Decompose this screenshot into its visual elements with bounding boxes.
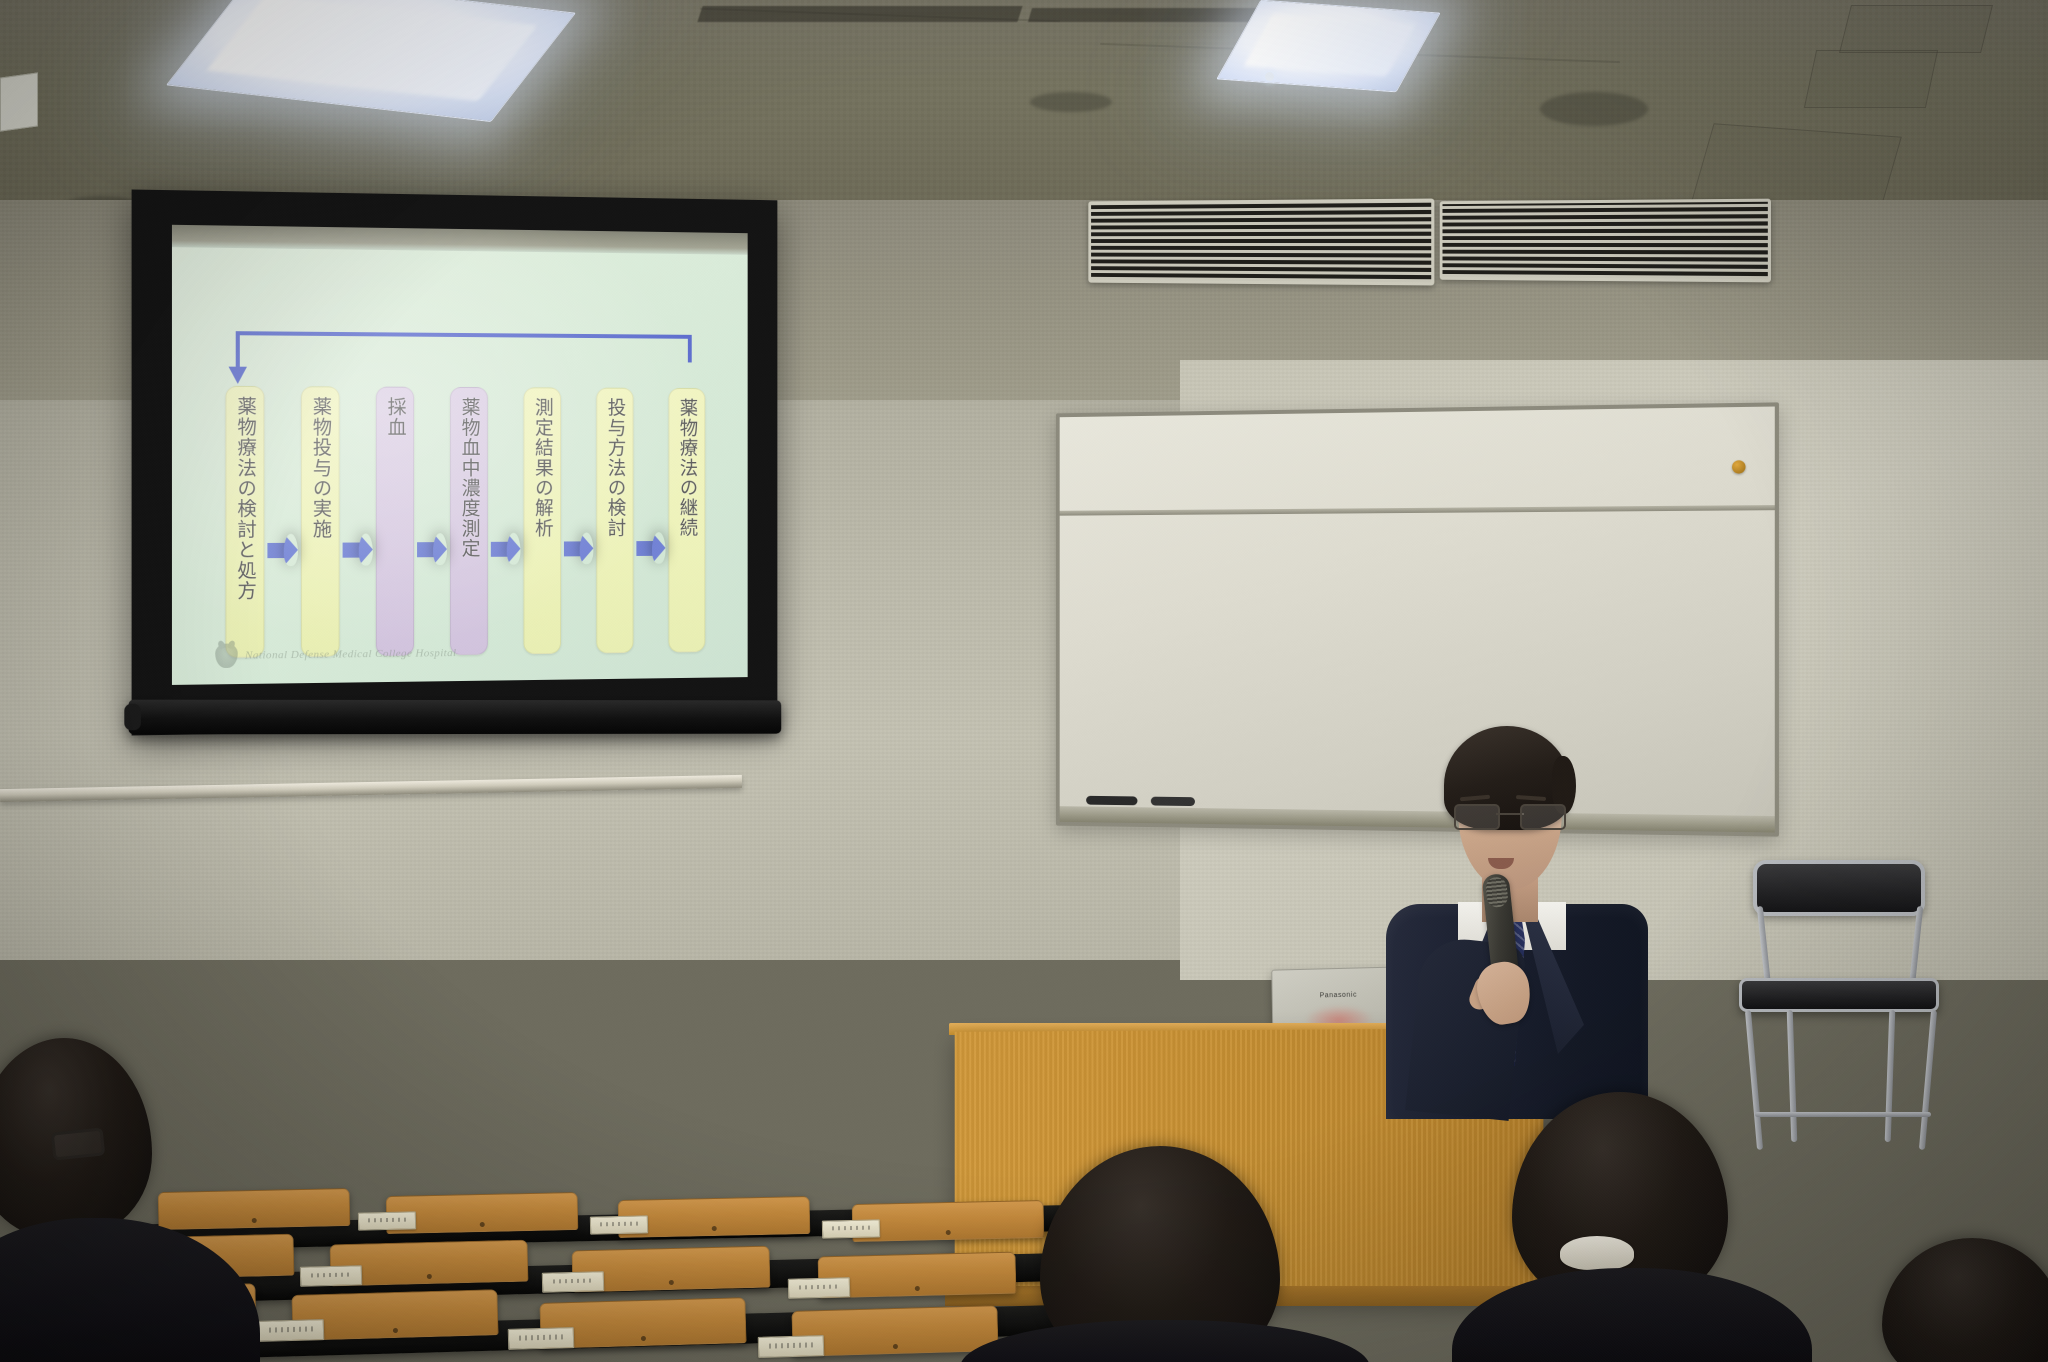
chair-frame-leg: [1909, 906, 1924, 988]
chair-cross-rail: [1755, 1112, 1931, 1117]
ceiling-vent: [1030, 92, 1112, 112]
nameplate-marking: [832, 1226, 870, 1231]
chair-seat: [1739, 978, 1939, 1012]
flow-node-label: 薬物療法の継続: [677, 398, 698, 538]
desk-nameplate: [358, 1211, 416, 1230]
audience-head: [1882, 1238, 2048, 1362]
desk-nameplate: [758, 1335, 825, 1358]
arrow-head: [507, 533, 521, 565]
flow-node-4: 薬物血中濃度測定: [450, 387, 488, 655]
projection-screen-roller-bar[interactable]: [128, 700, 781, 735]
loop-right-segment: [688, 335, 692, 363]
flow-arrow-icon: [491, 531, 521, 571]
ceiling: [0, 0, 2048, 210]
flow-node-1: 薬物療法の検討と処方: [225, 386, 264, 658]
flow-node-label: 測定結果の解析: [532, 397, 553, 538]
nameplate-marking: [769, 1343, 813, 1349]
desk-nameplate: [590, 1215, 648, 1234]
flow-node-6: 投与方法の検討: [596, 388, 633, 654]
whiteboard-magnet-icon[interactable]: [1732, 460, 1746, 473]
desk-nameplate: [822, 1219, 880, 1238]
chair-backrest: [1753, 860, 1925, 916]
nameplate-marking: [553, 1279, 594, 1284]
desk-nameplate: [258, 1319, 325, 1342]
hair-clip: [1560, 1236, 1634, 1270]
folding-chair[interactable]: [1735, 860, 1945, 1160]
desk-nameplate: [508, 1327, 575, 1350]
projected-slide: 薬物療法の検討と処方 薬物投与の実施 採血: [172, 225, 748, 685]
air-conditioner-vent: [1088, 199, 1434, 286]
ceiling-speaker-grille: [1540, 92, 1648, 126]
arrow-head: [359, 533, 373, 565]
nameplate-marking: [799, 1285, 840, 1290]
lens-left: [1454, 804, 1500, 830]
loop-left-segment: [236, 331, 240, 370]
lecture-hall-photo: 薬物療法の検討と処方 薬物投与の実施 採血: [0, 0, 2048, 1362]
flow-node-label: 薬物投与の実施: [310, 396, 332, 539]
flow-node-5: 測定結果の解析: [524, 387, 561, 654]
seat[interactable]: [852, 1200, 1045, 1242]
crest-icon: [215, 643, 238, 668]
slide-top-band: [172, 225, 748, 255]
flow-node-2: 薬物投与の実施: [301, 386, 340, 657]
loop-arrowhead-icon: [229, 367, 247, 384]
slide-footer-logo-text: National Defense Medical College Hospita…: [245, 647, 457, 662]
sprinkler-head-icon: [1265, 72, 1274, 81]
flow-node-label: 薬物血中濃度測定: [458, 397, 479, 559]
nameplate-marking: [600, 1222, 638, 1227]
flow-arrow-icon: [343, 531, 373, 571]
desk-nameplate: [542, 1271, 604, 1293]
whiteboard-divider: [1060, 505, 1775, 516]
chair-frame-leg: [1745, 1010, 1763, 1150]
audience-eyeglasses-icon: [51, 1127, 106, 1160]
nameplate-marking: [269, 1327, 313, 1333]
chair-frame-leg: [1787, 1010, 1798, 1142]
flow-arrow-icon: [417, 531, 447, 571]
flow-node-7: 薬物療法の継続: [668, 388, 705, 653]
chair-frame-leg: [1757, 906, 1772, 988]
arrow-head: [284, 534, 298, 566]
loop-horizontal-segment: [236, 331, 692, 339]
flow-node-label: 薬物療法の検討と処方: [234, 396, 256, 601]
flow-node-3: 採血: [376, 387, 414, 656]
arrow-head: [652, 532, 666, 564]
presenter: [1380, 726, 1660, 1116]
desk-nameplate: [788, 1277, 850, 1299]
flow-arrow-icon: [267, 532, 298, 573]
ceiling-access-panel: [1839, 5, 1993, 53]
nameplate-marking: [368, 1218, 406, 1223]
workflow-flow-row: 薬物療法の検討と処方 薬物投与の実施 採血: [225, 386, 705, 658]
flow-arrow-icon: [636, 530, 665, 570]
lens-right: [1520, 804, 1566, 830]
nameplate-marking: [519, 1335, 563, 1341]
eyeglasses-icon: [1454, 804, 1566, 826]
flow-node-label: 採血: [384, 397, 405, 438]
ceiling-access-panel: [1804, 50, 1938, 108]
ceiling-plate: [0, 72, 38, 131]
nameplate-marking: [311, 1273, 352, 1278]
chair-frame-leg: [1885, 1010, 1896, 1142]
seat[interactable]: [158, 1188, 351, 1230]
ceiling-beam: [697, 6, 1022, 22]
projection-screen-frame: 薬物療法の検討と処方 薬物投与の実施 採血: [132, 189, 778, 735]
flow-arrow-icon: [564, 530, 593, 570]
laptop-brand-label: Panasonic: [1320, 992, 1358, 1000]
flow-node-label: 投与方法の検討: [605, 398, 626, 538]
air-conditioner-vent: [1440, 199, 1771, 283]
whiteboard-marker[interactable]: [1151, 797, 1195, 806]
arrow-head: [580, 532, 594, 564]
chair-frame-leg: [1919, 1010, 1937, 1150]
arrow-head: [433, 533, 447, 565]
desk-nameplate: [300, 1265, 362, 1287]
whiteboard-marker[interactable]: [1086, 796, 1137, 805]
slide-footer-logo: National Defense Medical College Hospita…: [215, 641, 456, 668]
